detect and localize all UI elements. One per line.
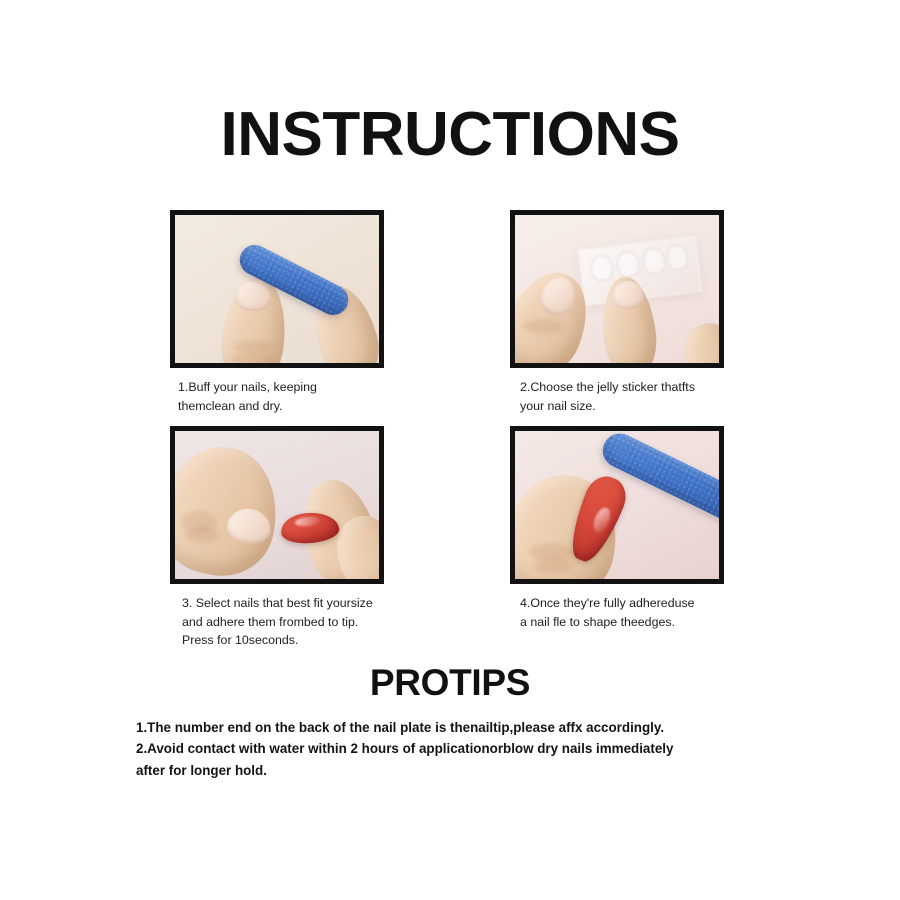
knuckle-crease: [523, 319, 563, 333]
step-photo-4: [510, 426, 724, 584]
step-photo-2: [510, 210, 724, 368]
knuckle-crease: [233, 341, 273, 353]
knuckle-crease: [185, 527, 219, 543]
protips-title: PROTIPS: [370, 650, 530, 701]
step-caption-2: 2.Choose the jelly sticker thatfts your …: [510, 368, 730, 416]
step-photo-3: [170, 426, 384, 584]
knuckle-crease: [231, 353, 275, 363]
step-item-2: 2.Choose the jelly sticker thatfts your …: [510, 210, 730, 416]
photo-choose-sticker: [515, 215, 719, 363]
knuckle-crease: [529, 543, 573, 561]
step-item-1: 1.Buff your nails, keeping themclean and…: [170, 210, 390, 416]
step-caption-3: 3. Select nails that best fit yoursize a…: [170, 584, 390, 651]
steps-grid: 1.Buff your nails, keeping themclean and…: [170, 210, 730, 650]
page-title: INSTRUCTIONS: [221, 0, 680, 166]
step-caption-1: 1.Buff your nails, keeping themclean and…: [170, 368, 390, 416]
knuckle-crease: [533, 559, 573, 573]
instruction-sheet: INSTRUCTIONS 1.Buff your nails, keepi: [0, 0, 900, 900]
protips-body: 1.The number end on the back of the nail…: [130, 717, 770, 781]
photo-file-edges: [515, 431, 719, 579]
step-item-4: 4.Once they're fully adhereduse a nail f…: [510, 426, 730, 651]
step-caption-4: 4.Once they're fully adhereduse a nail f…: [510, 584, 730, 632]
photo-select-nails: [175, 431, 379, 579]
step-item-3: 3. Select nails that best fit yoursize a…: [170, 426, 390, 651]
step-photo-1: [170, 210, 384, 368]
photo-buff-nails: [175, 215, 379, 363]
